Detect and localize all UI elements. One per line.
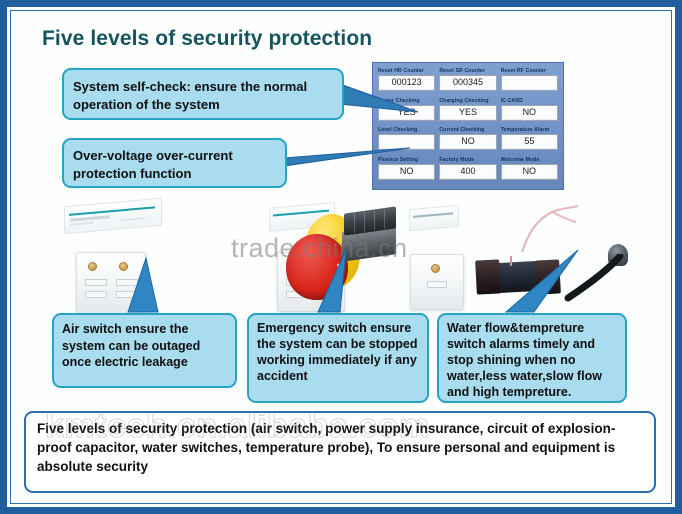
breaker-slot [427, 281, 447, 288]
panel-label: Level Checking [378, 126, 435, 134]
callout-over-voltage: Over-voltage over-current protection fun… [62, 138, 287, 188]
panel-label: IC CARD [501, 97, 558, 105]
panel-value[interactable]: NO [378, 164, 435, 180]
panel-label: Power Checking [378, 97, 435, 105]
estop-ridge [384, 209, 385, 229]
callout-water-flow: Water flow&tempreture switch alarms time… [437, 313, 627, 403]
panel-cell-level-checking[interactable]: Level Checking [378, 126, 435, 156]
panel-value[interactable]: YES [439, 105, 496, 121]
breaker-stripe [69, 206, 155, 216]
panel-cell-ic-card[interactable]: IC CARD NO [501, 97, 558, 127]
callout-text: Air switch ensure the system can be outa… [54, 315, 235, 377]
panel-cell-reset-hr-counter[interactable]: Reset HR Counter 000123 [378, 67, 435, 97]
breaker-print [121, 217, 145, 221]
callout-text: Over-voltage over-current protection fun… [64, 140, 285, 188]
breaker-slot [116, 279, 138, 286]
breaker-screw [88, 262, 97, 271]
breaker-package [409, 205, 459, 231]
callout-text: Water flow&tempreture switch alarms time… [439, 315, 625, 405]
control-panel: Reset HR Counter 000123 Reset SR Counter… [372, 62, 564, 190]
panel-label: Reset RF Counter [501, 67, 558, 75]
estop-ridge [374, 210, 375, 230]
breaker-print [70, 222, 94, 226]
panel-cell-charging-checking[interactable]: Charging Checking YES [439, 97, 496, 127]
panel-cell-welcome-mode[interactable]: Welcome Mode NO [501, 156, 558, 186]
probe-cable [562, 254, 628, 302]
watermark-center: trade.china.cn [231, 233, 408, 264]
panel-cell-reset-rf-counter[interactable]: Reset RF Counter [501, 67, 558, 97]
panel-label: Welcome Mode [501, 156, 558, 164]
breaker-slot [116, 291, 138, 298]
panel-cell-temperature-alarm[interactable]: Temperature Alarm 55 [501, 126, 558, 156]
callout-text: Emergency switch ensure the system can b… [249, 315, 427, 389]
breaker-stripe [413, 212, 453, 217]
estop-ridge [354, 213, 355, 233]
panel-label: Charging Checking [439, 97, 496, 105]
callout-self-check: System self-check: ensure the normal ope… [62, 68, 344, 120]
breaker-stripe [273, 210, 329, 217]
panel-value[interactable]: NO [501, 164, 558, 180]
callout-air-switch: Air switch ensure the system can be outa… [52, 313, 237, 388]
breaker-screw [119, 262, 128, 271]
panel-value[interactable] [501, 75, 558, 91]
flow-switch-nut [475, 259, 501, 294]
panel-label: Reset HR Counter [378, 67, 435, 75]
control-panel-grid: Reset HR Counter 000123 Reset SR Counter… [378, 67, 558, 185]
panel-value[interactable]: 000345 [439, 75, 496, 91]
breaker-print [70, 215, 110, 221]
breaker-slot [85, 279, 107, 286]
breaker-screw [431, 264, 440, 273]
watermark-bottom: kmtech.cn.alibaba.com [45, 407, 430, 446]
breaker-body [410, 254, 464, 310]
breaker-body [76, 252, 146, 314]
flow-switch-wires [514, 200, 584, 252]
panel-value[interactable]: YES [378, 105, 435, 121]
security-protection-slide: Five levels of security protection [0, 0, 682, 514]
panel-value[interactable]: 000123 [378, 75, 435, 91]
panel-value[interactable]: 400 [439, 164, 496, 180]
callout-emergency-switch: Emergency switch ensure the system can b… [247, 313, 429, 403]
flow-switch-nut [535, 259, 561, 294]
panel-value[interactable] [378, 134, 435, 150]
panel-label: Reset SR Counter [439, 67, 496, 75]
panel-cell-current-checking[interactable]: Current Checking NO [439, 126, 496, 156]
panel-label: Fluence Setting [378, 156, 435, 164]
callout-text: System self-check: ensure the normal ope… [64, 70, 342, 119]
panel-cell-fluence-setting[interactable]: Fluence Setting NO [378, 156, 435, 186]
panel-cell-reset-sr-counter[interactable]: Reset SR Counter 000345 [439, 67, 496, 97]
flow-switch-lead [510, 256, 512, 266]
panel-label: Temperature Alarm [501, 126, 558, 134]
panel-value[interactable]: NO [501, 105, 558, 121]
panel-cell-factory-mode[interactable]: Factory Mode 400 [439, 156, 496, 186]
estop-ridge [364, 212, 365, 232]
page-title: Five levels of security protection [42, 27, 372, 51]
panel-cell-power-checking[interactable]: Power Checking YES [378, 97, 435, 127]
panel-value[interactable]: NO [439, 134, 496, 150]
panel-label: Current Checking [439, 126, 496, 134]
panel-label: Factory Mode [439, 156, 496, 164]
breaker-slot [85, 291, 107, 298]
panel-value[interactable]: 55 [501, 134, 558, 150]
